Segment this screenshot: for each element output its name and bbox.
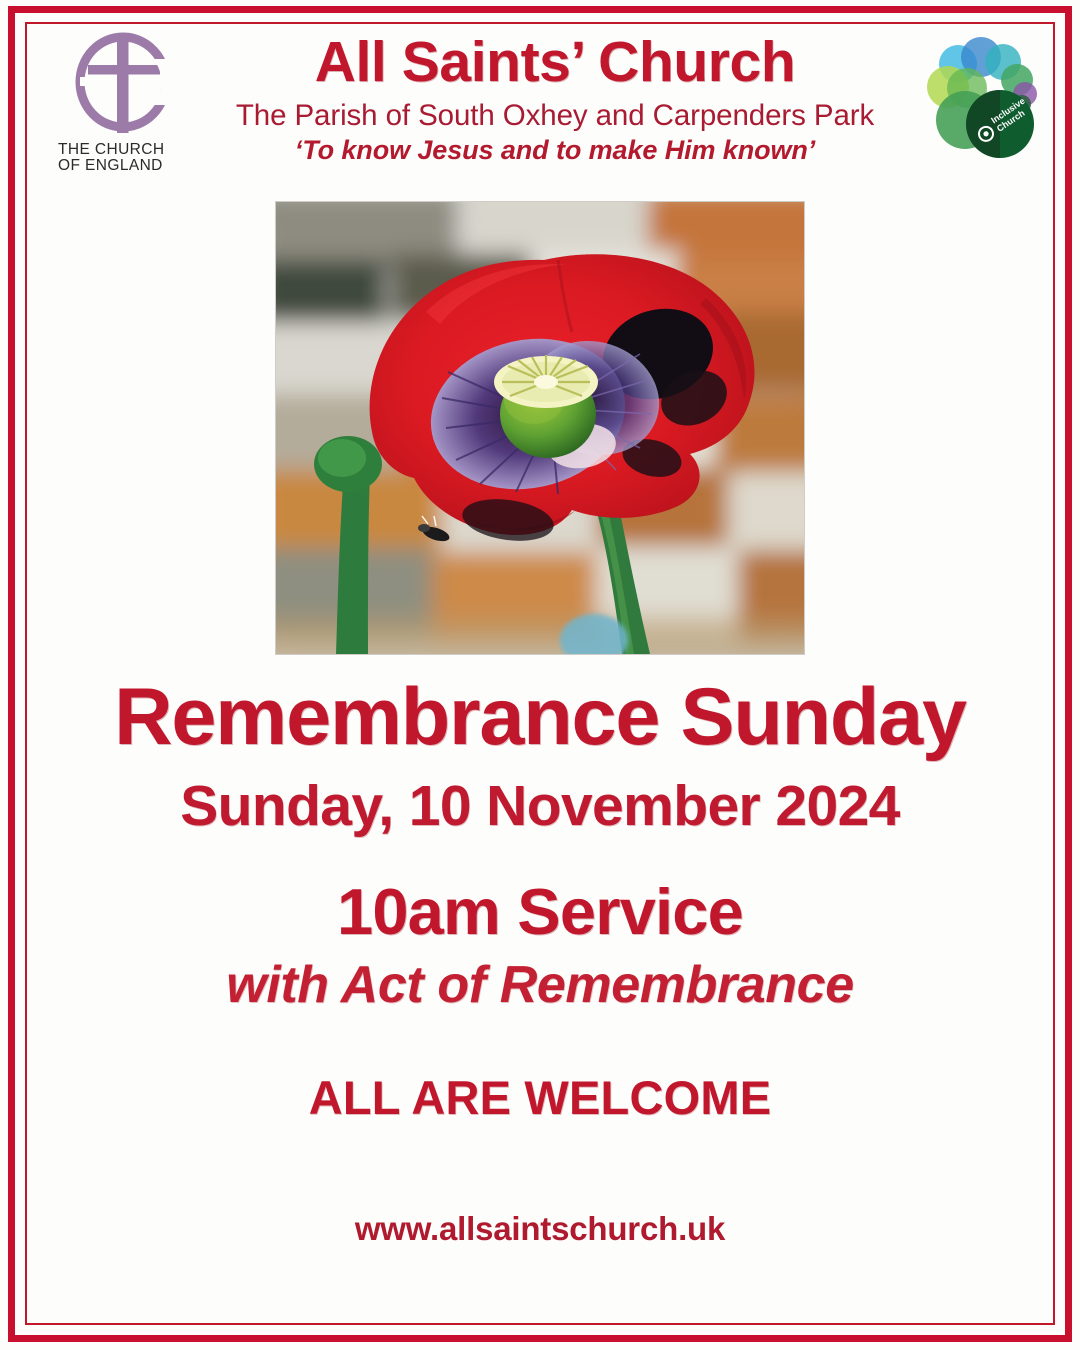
page-title: Remembrance Sunday — [34, 676, 1046, 759]
coe-logo-line2: OF ENGLAND — [58, 158, 198, 174]
poster-content: THE CHURCH OF ENGLAND All Saints’ Church… — [34, 30, 1046, 1316]
church-name: All Saints’ Church — [214, 32, 896, 94]
church-of-england-logo: THE CHURCH OF ENGLAND — [48, 32, 198, 175]
red-poppy-photograph — [276, 202, 804, 654]
service-subtitle: with Act of Remembrance — [34, 957, 1046, 1013]
poster-header: THE CHURCH OF ENGLAND All Saints’ Church… — [34, 30, 1046, 180]
poster-page: THE CHURCH OF ENGLAND All Saints’ Church… — [0, 0, 1080, 1350]
coe-logo-text: THE CHURCH OF ENGLAND — [48, 142, 198, 175]
event-date: Sunday, 10 November 2024 — [34, 777, 1046, 837]
service-time: 10am Service — [34, 878, 1046, 946]
parish-line: The Parish of South Oxhey and Carpenders… — [214, 99, 896, 134]
coe-logo-line1: THE CHURCH — [58, 142, 198, 158]
church-of-england-cross-icon — [67, 32, 179, 140]
poppy-photo-graphic — [276, 202, 804, 654]
welcome-message: ALL ARE WELCOME — [34, 1073, 1046, 1122]
website-link[interactable]: www.allsaintschurch.uk — [34, 1210, 1046, 1248]
motto-line: ‘To know Jesus and to make Him known’ — [214, 134, 896, 166]
header-title-block: All Saints’ Church The Parish of South O… — [214, 30, 896, 167]
inclusive-church-circles-icon: Inclusive Church — [921, 32, 1046, 172]
